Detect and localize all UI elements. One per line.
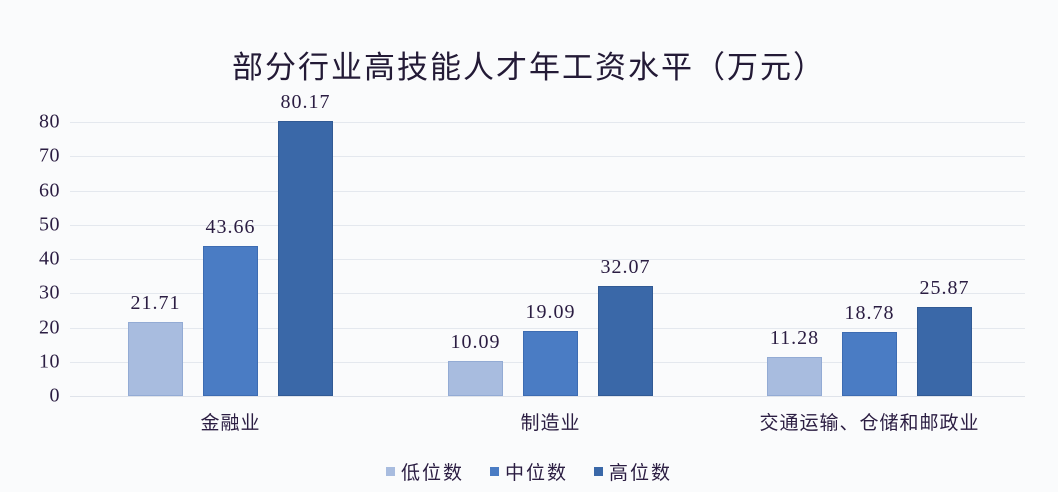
- x-axis-category-label: 金融业: [200, 408, 260, 435]
- bar-value-label: 80.17: [281, 91, 331, 114]
- y-axis-tick-label: 50: [39, 213, 60, 236]
- bar: [203, 246, 258, 396]
- x-axis-category-label: 交通运输、仓储和邮政业: [759, 408, 979, 435]
- bar-value-label: 32.07: [601, 256, 651, 279]
- plot-area: 21.7143.6680.1710.0919.0932.0711.2818.78…: [70, 122, 1025, 396]
- bar-value-label: 19.09: [526, 301, 576, 324]
- bar: [767, 357, 822, 396]
- bar: [842, 332, 897, 396]
- bar-chart: 部分行业高技能人才年工资水平（万元） 01020304050607080 21.…: [0, 0, 1058, 492]
- bar-value-label: 11.28: [770, 327, 819, 350]
- y-axis-tick-label: 80: [39, 111, 60, 134]
- x-axis-category-label: 制造业: [520, 408, 580, 435]
- legend-swatch-icon: [386, 467, 395, 476]
- legend-item[interactable]: 高位数: [594, 458, 672, 485]
- gridline: [70, 122, 1025, 123]
- y-axis-tick-label: 40: [39, 248, 60, 271]
- bar: [128, 322, 183, 396]
- bar-value-label: 21.71: [131, 292, 181, 315]
- y-axis-tick-label: 0: [50, 385, 61, 408]
- chart-title: 部分行业高技能人才年工资水平（万元）: [0, 42, 1058, 87]
- legend-label: 低位数: [401, 458, 464, 485]
- gridline: [70, 156, 1025, 157]
- legend-label: 中位数: [505, 458, 568, 485]
- gridline: [70, 396, 1025, 397]
- bar-value-label: 25.87: [920, 277, 970, 300]
- legend-label: 高位数: [609, 458, 672, 485]
- y-axis-tick-label: 30: [39, 282, 60, 305]
- y-axis-tick-label: 20: [39, 316, 60, 339]
- bar: [598, 286, 653, 396]
- y-axis-tick-label: 10: [39, 350, 60, 373]
- bar: [523, 331, 578, 396]
- y-axis-tick-label: 60: [39, 179, 60, 202]
- gridline: [70, 191, 1025, 192]
- y-axis-tick-label: 70: [39, 145, 60, 168]
- bar: [448, 361, 503, 396]
- legend-swatch-icon: [594, 467, 603, 476]
- bar-value-label: 10.09: [451, 331, 501, 354]
- chart-legend: 低位数中位数高位数: [0, 458, 1058, 485]
- bar: [917, 307, 972, 396]
- bar-value-label: 43.66: [206, 216, 256, 239]
- bar-value-label: 18.78: [845, 302, 895, 325]
- legend-item[interactable]: 低位数: [386, 458, 464, 485]
- bar: [278, 121, 333, 396]
- legend-swatch-icon: [490, 467, 499, 476]
- y-axis: 01020304050607080: [14, 122, 60, 396]
- legend-item[interactable]: 中位数: [490, 458, 568, 485]
